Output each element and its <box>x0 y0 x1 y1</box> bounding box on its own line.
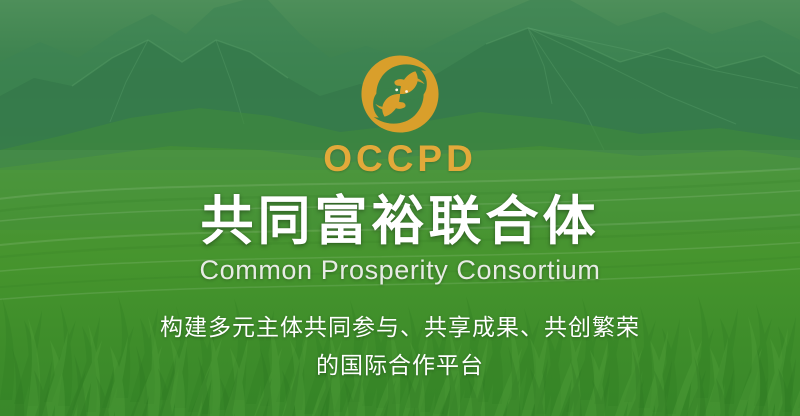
description-line-1: 构建多元主体共同参与、共享成果、共创繁荣 <box>160 309 640 346</box>
promo-banner: OCCPD 共同富裕联合体 Common Prosperity Consorti… <box>0 0 800 416</box>
occpd-swirl-emblem-icon <box>359 53 441 135</box>
brand-abbreviation: OCCPD <box>323 140 477 177</box>
page-title-english: Common Prosperity Consortium <box>200 256 601 286</box>
banner-content: OCCPD 共同富裕联合体 Common Prosperity Consorti… <box>0 0 800 416</box>
page-title-chinese: 共同富裕联合体 <box>201 194 600 250</box>
description-block: 构建多元主体共同参与、共享成果、共创繁荣 的国际合作平台 <box>160 309 640 384</box>
description-line-2: 的国际合作平台 <box>160 347 640 384</box>
